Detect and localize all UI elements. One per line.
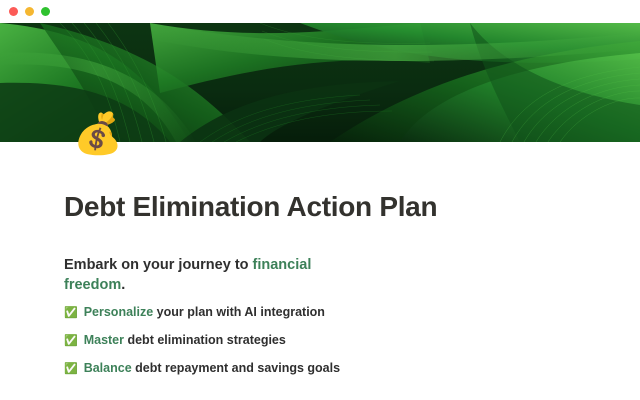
minimize-button[interactable] <box>25 7 34 16</box>
subtitle: Embark on your journey to financial free… <box>64 255 344 295</box>
list-item: ✅ Master debt elimination strategies <box>64 330 584 351</box>
subtitle-lead: Embark on your journey to <box>64 257 253 273</box>
close-button[interactable] <box>9 7 18 16</box>
list-item-lead: Personalize <box>84 305 153 319</box>
list-item-rest: your plan with AI integration <box>153 305 325 319</box>
check-mark-icon[interactable]: ✅ <box>64 359 78 379</box>
document-body: 💰 Debt Elimination Action Plan Embark on… <box>0 142 640 400</box>
list-item-rest: debt elimination strategies <box>124 333 286 347</box>
window-titlebar <box>0 0 640 23</box>
app-window: 💰 Debt Elimination Action Plan Embark on… <box>0 0 640 400</box>
checklist: ✅ Personalize your plan with AI integrat… <box>64 302 584 386</box>
list-item: ✅ Balance debt repayment and savings goa… <box>64 358 584 379</box>
list-item-lead: Master <box>84 333 124 347</box>
maximize-button[interactable] <box>41 7 50 16</box>
subtitle-trail: . <box>121 277 125 293</box>
check-mark-icon[interactable]: ✅ <box>64 303 78 323</box>
money-bag-emoji-icon[interactable]: 💰 <box>73 114 123 154</box>
page-title: Debt Elimination Action Plan <box>64 191 437 223</box>
list-item-lead: Balance <box>84 361 132 375</box>
list-item: ✅ Personalize your plan with AI integrat… <box>64 302 584 323</box>
check-mark-icon[interactable]: ✅ <box>64 331 78 351</box>
list-item-rest: debt repayment and savings goals <box>132 361 340 375</box>
